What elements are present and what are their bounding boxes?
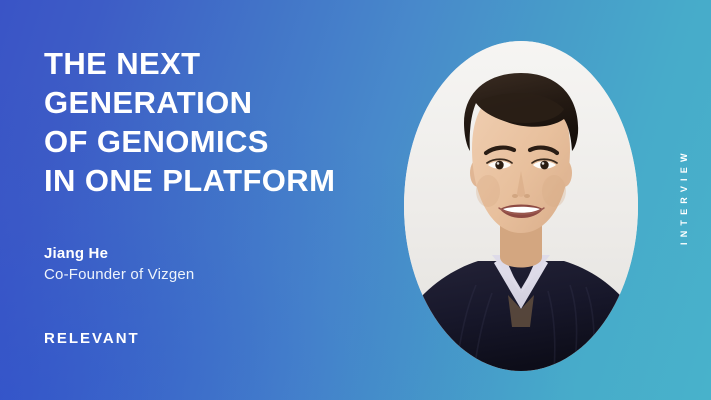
brand-wordmark: RELEVANT (44, 330, 140, 347)
speaker-name: Jiang He (44, 243, 194, 264)
headline-line-2: GENERATION (44, 83, 404, 122)
page-title: THE NEXT GENERATION OF GENOMICS IN ONE P… (44, 44, 404, 200)
portrait-illustration (404, 41, 638, 371)
headline-line-1: THE NEXT (44, 44, 404, 83)
headline-line-4: IN ONE PLATFORM (44, 161, 404, 200)
avatar (404, 41, 638, 371)
headline-line-3: OF GENOMICS (44, 122, 404, 161)
interview-label: INTERVIEW (679, 122, 689, 272)
speaker-block: Jiang He Co-Founder of Vizgen (44, 243, 194, 286)
speaker-role: Co-Founder of Vizgen (44, 264, 194, 286)
interview-promo-card: THE NEXT GENERATION OF GENOMICS IN ONE P… (0, 0, 711, 400)
